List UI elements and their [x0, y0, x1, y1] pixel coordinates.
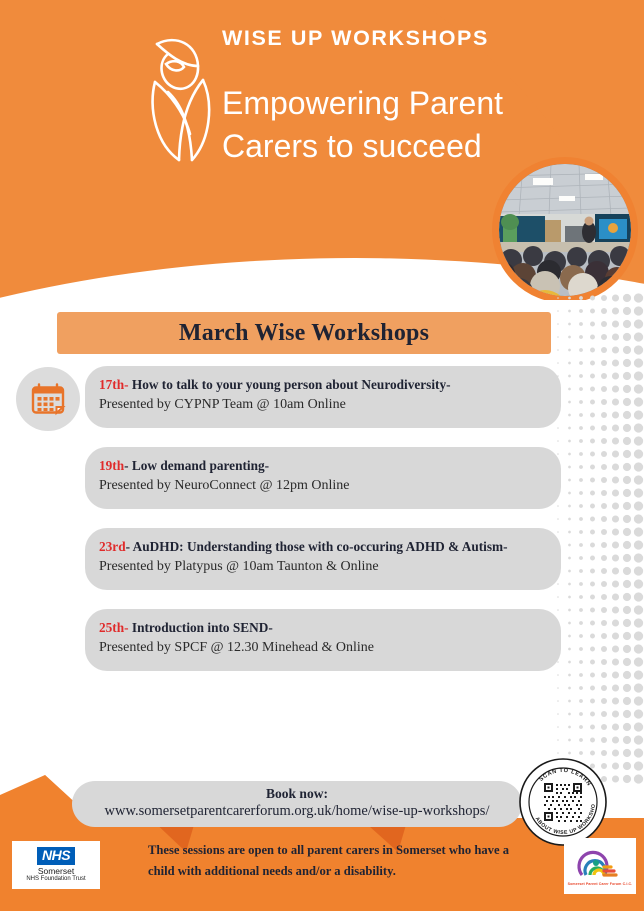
nhs-mark: NHS: [37, 847, 75, 864]
workshop-date: 19th: [99, 458, 124, 473]
workshop-title-line: 23rd- AuDHD: Understanding those with co…: [99, 539, 547, 556]
workshop-title: Low demand parenting-: [132, 458, 269, 473]
workshop-date-dash: -: [124, 620, 128, 635]
month-banner: March Wise Workshops: [57, 312, 551, 354]
workshop-date: 17th: [99, 377, 124, 392]
nhs-region-name: Somerset: [38, 867, 74, 876]
workshop-date-dash: -: [126, 539, 130, 554]
month-banner-title: March Wise Workshops: [179, 320, 429, 347]
workshop-title: Introduction into SEND-: [132, 620, 273, 635]
workshop-title: AuDHD: Understanding those with co-occur…: [133, 539, 508, 554]
poster-title-line-2: Carers to succeed: [222, 125, 562, 168]
workshop-details: Presented by NeuroConnect @ 12pm Online: [99, 475, 547, 496]
leaf-logo-icon: [140, 28, 222, 168]
qr-code-icon[interactable]: SCAN TO LEARN ABOUT WISE UP WORKSHOPS: [519, 758, 607, 846]
workshop-card[interactable]: 19th- Low demand parenting- Presented by…: [85, 447, 561, 509]
eligibility-note: These sessions are open to all parent ca…: [148, 840, 528, 882]
poster-header: WISE UP WORKSHOPS Empowering Parent Care…: [0, 0, 644, 300]
workshop-details: Presented by SPCF @ 12.30 Minehead & Onl…: [99, 637, 547, 658]
poster-title-line-1: Empowering Parent: [222, 82, 562, 125]
calendar-icon: [16, 367, 80, 431]
workshop-title: How to talk to your young person about N…: [132, 377, 451, 392]
nhs-trust-label: NHS Foundation Trust: [26, 876, 85, 883]
workshop-details: Presented by CYPNP Team @ 10am Online: [99, 394, 547, 415]
workshop-date: 23rd: [99, 539, 126, 554]
workshop-card[interactable]: 23rd- AuDHD: Understanding those with co…: [85, 528, 561, 590]
workshop-date-dash: -: [124, 458, 128, 473]
workshop-title-line: 25th- Introduction into SEND-: [99, 620, 547, 637]
spcf-logo: Somerset Parent Carer Forum C.I.C.: [564, 838, 636, 894]
workshop-card[interactable]: 25th- Introduction into SEND- Presented …: [85, 609, 561, 671]
workshop-date-dash: -: [124, 377, 128, 392]
workshop-card[interactable]: 17th- How to talk to your young person a…: [85, 366, 561, 428]
workshop-list: 17th- How to talk to your young person a…: [85, 366, 561, 690]
spcf-caption: Somerset Parent Carer Forum C.I.C.: [568, 882, 633, 886]
workshop-title-line: 19th- Low demand parenting-: [99, 458, 547, 475]
booking-box[interactable]: Book now: www.somersetparentcarerforum.o…: [72, 781, 522, 827]
poster-main-title: Empowering Parent Carers to succeed: [222, 82, 562, 167]
workshop-title-line: 17th- How to talk to your young person a…: [99, 377, 547, 394]
book-now-label: Book now:: [72, 786, 522, 802]
workshop-date: 25th: [99, 620, 124, 635]
poster-eyebrow-title: WISE UP WORKSHOPS: [222, 28, 552, 50]
rainbow-swirl-icon: [574, 847, 626, 881]
nhs-logo: NHS Somerset NHS Foundation Trust: [12, 841, 100, 889]
booking-url-link[interactable]: www.somersetparentcarerforum.org.uk/home…: [72, 802, 522, 822]
workshop-audience-photo: [492, 157, 638, 300]
workshop-details: Presented by Platypus @ 10am Taunton & O…: [99, 556, 547, 577]
